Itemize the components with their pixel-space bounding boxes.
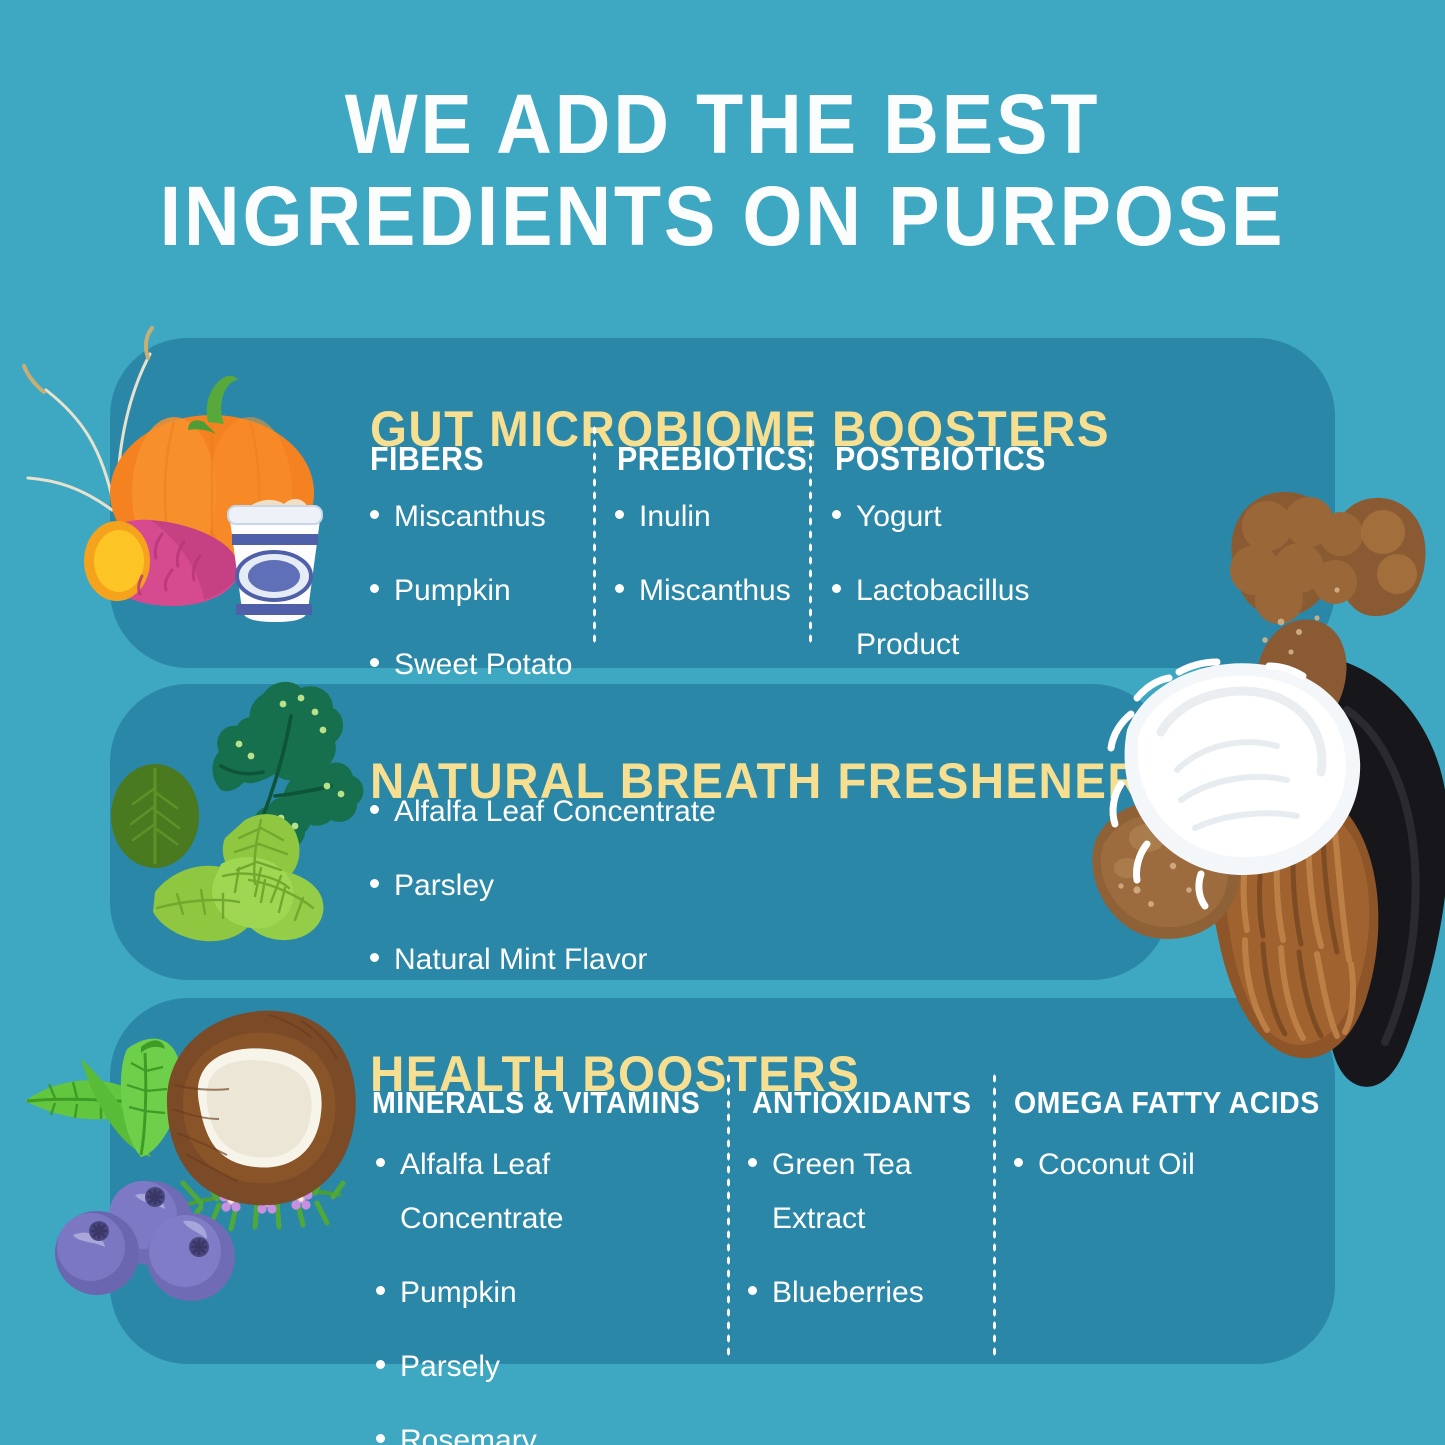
list-minerals-vitamins: Alfalfa Leaf Concentrate Pumpkin Parsely… (374, 1138, 710, 1445)
column-heading-omega-fatty-acids: OMEGA FATTY ACIDS (1014, 1085, 1320, 1121)
list-antioxidants: Green Tea Extract Blueberries (746, 1138, 946, 1340)
column-divider (808, 424, 813, 646)
column-heading-fibers: FIBERS (370, 440, 484, 478)
list-item: Sweet Potato (368, 638, 583, 692)
list-fibers: Miscanthus Pumpkin Sweet Potato (368, 490, 583, 712)
list-item: Alfalfa Leaf Concentrate (368, 785, 848, 839)
mint-parsley-alfalfa-icon (95, 668, 395, 968)
list-prebiotics: Inulin Miscanthus (613, 490, 808, 638)
list-omega-fatty-acids: Coconut Oil (1012, 1138, 1262, 1212)
list-item: Pumpkin (374, 1266, 710, 1320)
dog-paw-with-treat-illustration (1085, 470, 1445, 1090)
list-item: Natural Mint Flavor (368, 933, 848, 987)
title-line-1: WE ADD THE BEST (58, 78, 1387, 170)
column-heading-postbiotics: POSTBIOTICS (835, 440, 1046, 478)
list-item: Rosemary (374, 1414, 710, 1445)
coconut-blueberry-greentea-rosemary-icon (15, 1005, 365, 1305)
list-item: Pumpkin (368, 564, 583, 618)
infographic-canvas: WE ADD THE BEST INGREDIENTS ON PURPOSE (0, 0, 1445, 1445)
column-divider (726, 1072, 731, 1356)
list-item: Coconut Oil (1012, 1138, 1262, 1192)
column-heading-antioxidants: ANTIOXIDANTS (752, 1085, 971, 1121)
list-item: Parsley (368, 859, 848, 913)
page-title: WE ADD THE BEST INGREDIENTS ON PURPOSE (0, 78, 1445, 262)
list-item: Miscanthus (613, 564, 808, 618)
list-item: Lactobacillus Product (830, 564, 1042, 672)
list-item: Green Tea Extract (746, 1138, 946, 1246)
list-item: Yogurt (830, 490, 1042, 544)
column-heading-minerals-vitamins: MINERALS & VITAMINS (372, 1085, 700, 1121)
list-item: Miscanthus (368, 490, 583, 544)
list-item: Inulin (613, 490, 808, 544)
list-item: Parsely (374, 1340, 710, 1394)
column-divider (992, 1072, 997, 1356)
column-divider (592, 424, 597, 646)
list-item: Alfalfa Leaf Concentrate (374, 1138, 710, 1246)
list-postbiotics: Yogurt Lactobacillus Product (830, 490, 1042, 692)
title-line-2: INGREDIENTS ON PURPOSE (58, 170, 1387, 262)
pumpkin-sweet-potato-yogurt-icon (22, 318, 372, 658)
column-heading-prebiotics: PREBIOTICS (617, 440, 807, 478)
list-breath-fresheners: Alfalfa Leaf Concentrate Parsley Natural… (368, 785, 848, 1007)
list-item: Blueberries (746, 1266, 946, 1320)
